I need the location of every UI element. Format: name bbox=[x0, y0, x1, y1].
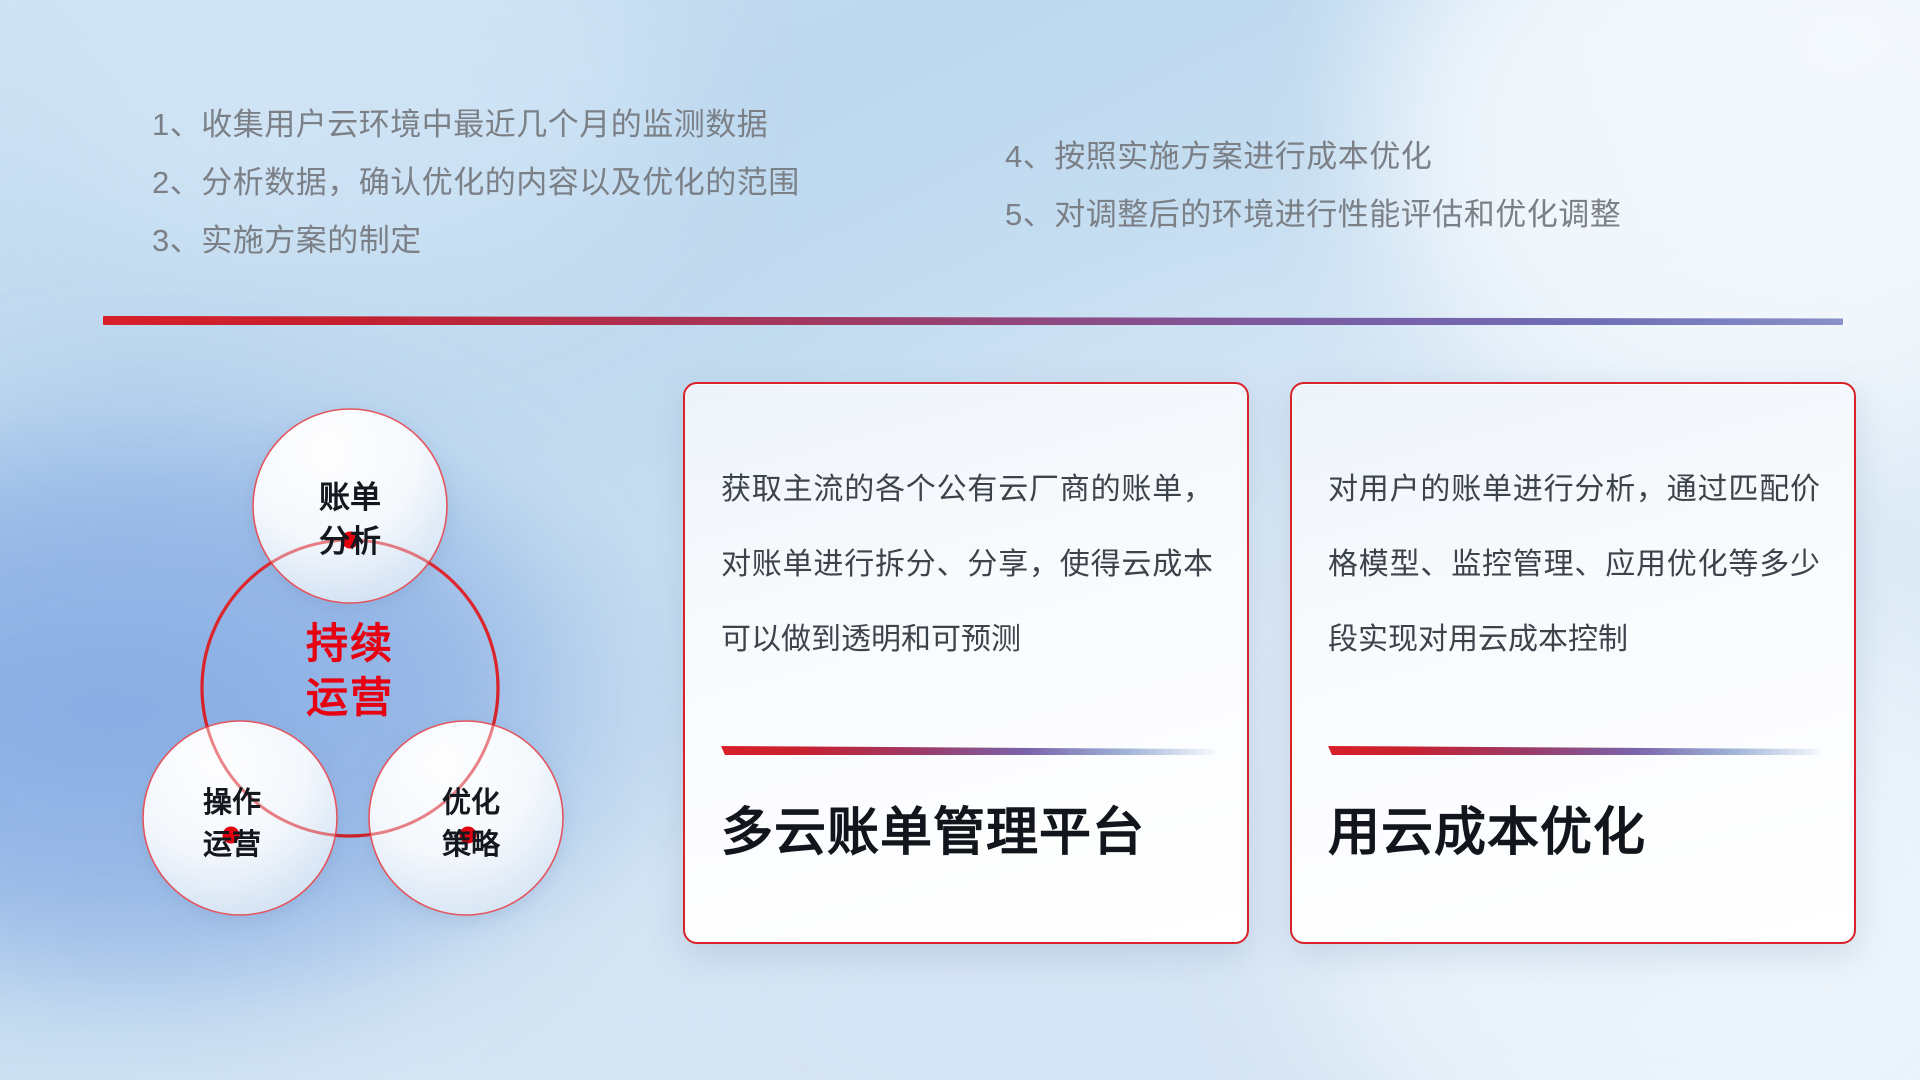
step-item: 5、对调整后的环境进行性能评估和优化调整 bbox=[1005, 186, 1621, 244]
venn-label-operations-line1: 操作 bbox=[203, 786, 261, 819]
card-title: 多云账单管理平台 bbox=[721, 790, 1221, 865]
venn-center-label-line2: 运营 bbox=[306, 674, 394, 721]
step-item: 4、按照实施方案进行成本优化 bbox=[1005, 128, 1621, 186]
steps-column-right: 4、按照实施方案进行成本优化 5、对调整后的环境进行性能评估和优化调整 bbox=[1005, 128, 1621, 244]
step-item: 2、分析数据，确认优化的内容以及优化的范围 bbox=[152, 154, 800, 212]
card-cloud-cost-optimization[interactable]: 对用户的账单进行分析，通过匹配价格模型、监控管理、应用优化等多少段实现对用云成本… bbox=[1290, 382, 1856, 944]
card-gradient-divider bbox=[721, 746, 1215, 755]
venn-label-bill-analysis-line1: 账单 bbox=[319, 480, 381, 515]
steps-column-left: 1、收集用户云环境中最近几个月的监测数据 2、分析数据，确认优化的内容以及优化的… bbox=[152, 96, 800, 270]
gradient-divider bbox=[103, 316, 1843, 325]
card-body-text: 获取主流的各个公有云厂商的账单，对账单进行拆分、分享，使得云成本可以做到透明和可… bbox=[721, 452, 1213, 677]
card-gradient-divider bbox=[1328, 746, 1822, 755]
venn-center-label-line1: 持续 bbox=[306, 620, 394, 667]
card-multi-cloud-bill-platform[interactable]: 获取主流的各个公有云厂商的账单，对账单进行拆分、分享，使得云成本可以做到透明和可… bbox=[683, 382, 1249, 944]
venn-label-optimization-strategy-line1: 优化 bbox=[442, 786, 500, 819]
card-title: 用云成本优化 bbox=[1328, 790, 1828, 865]
venn-label-operations-line2: 运营 bbox=[203, 828, 261, 861]
slide-canvas: 1、收集用户云环境中最近几个月的监测数据 2、分析数据，确认优化的内容以及优化的… bbox=[0, 0, 1920, 1080]
step-item: 3、实施方案的制定 bbox=[152, 212, 800, 270]
card-body-text: 对用户的账单进行分析，通过匹配价格模型、监控管理、应用优化等多少段实现对用云成本… bbox=[1328, 452, 1820, 677]
venn-diagram: 账单 分析 操作 运营 优化 策略 持续 运营 bbox=[96, 348, 656, 948]
venn-label-optimization-strategy-line2: 策略 bbox=[442, 827, 501, 861]
step-item: 1、收集用户云环境中最近几个月的监测数据 bbox=[152, 96, 800, 154]
venn-label-bill-analysis-line2: 分析 bbox=[319, 524, 381, 559]
